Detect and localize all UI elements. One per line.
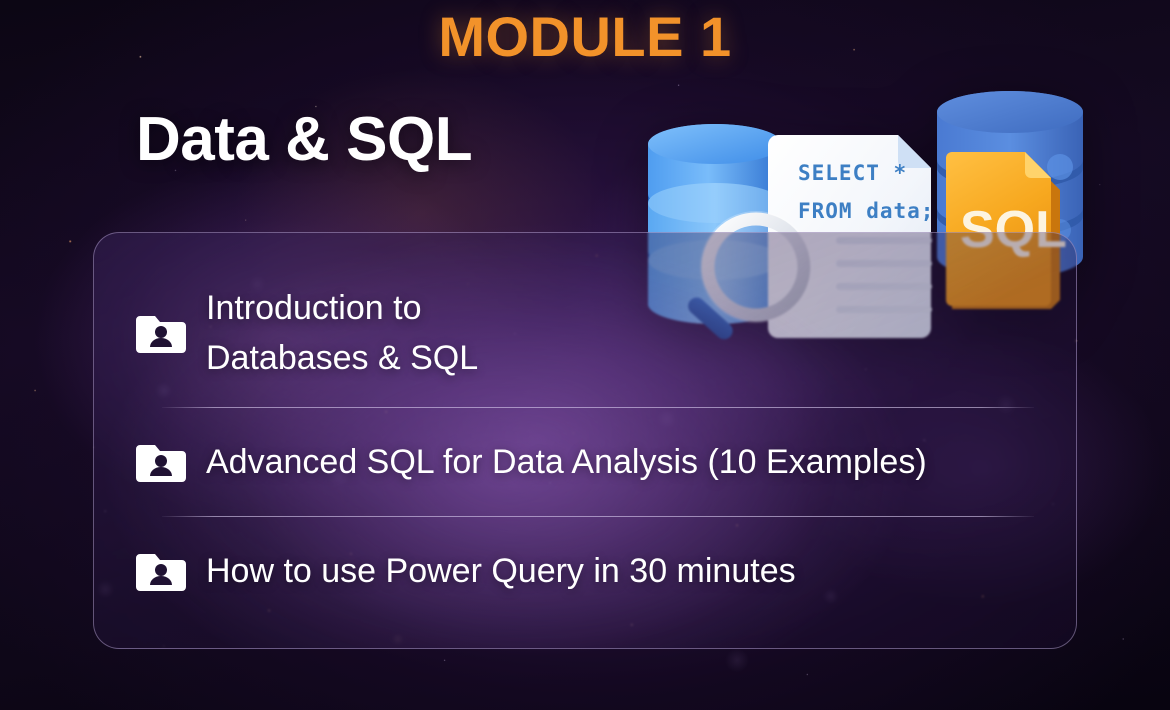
lesson-card: Introduction to Databases & SQL Advanced… bbox=[93, 232, 1077, 649]
slide-canvas: MODULE 1 Data & SQL bbox=[0, 0, 1170, 710]
lesson-item[interactable]: Introduction to Databases & SQL bbox=[130, 259, 1040, 407]
lesson-item[interactable]: Advanced SQL for Data Analysis (10 Examp… bbox=[130, 408, 1040, 516]
lesson-item[interactable]: How to use Power Query in 30 minutes bbox=[130, 517, 1040, 625]
folder-user-icon bbox=[136, 442, 186, 483]
folder-user-icon bbox=[136, 551, 186, 592]
document-code-line-1: SELECT * bbox=[798, 161, 907, 185]
lesson-item-label: How to use Power Query in 30 minutes bbox=[206, 546, 796, 596]
document-code-line-2: FROM data; bbox=[798, 199, 934, 223]
lesson-item-label: Introduction to Databases & SQL bbox=[206, 283, 478, 384]
lesson-item-label: Advanced SQL for Data Analysis (10 Examp… bbox=[206, 437, 927, 487]
folder-user-icon bbox=[136, 313, 186, 354]
lesson-list: Introduction to Databases & SQL Advanced… bbox=[130, 259, 1040, 625]
page-title: Data & SQL bbox=[136, 104, 472, 175]
module-label: MODULE 1 bbox=[0, 4, 1170, 69]
